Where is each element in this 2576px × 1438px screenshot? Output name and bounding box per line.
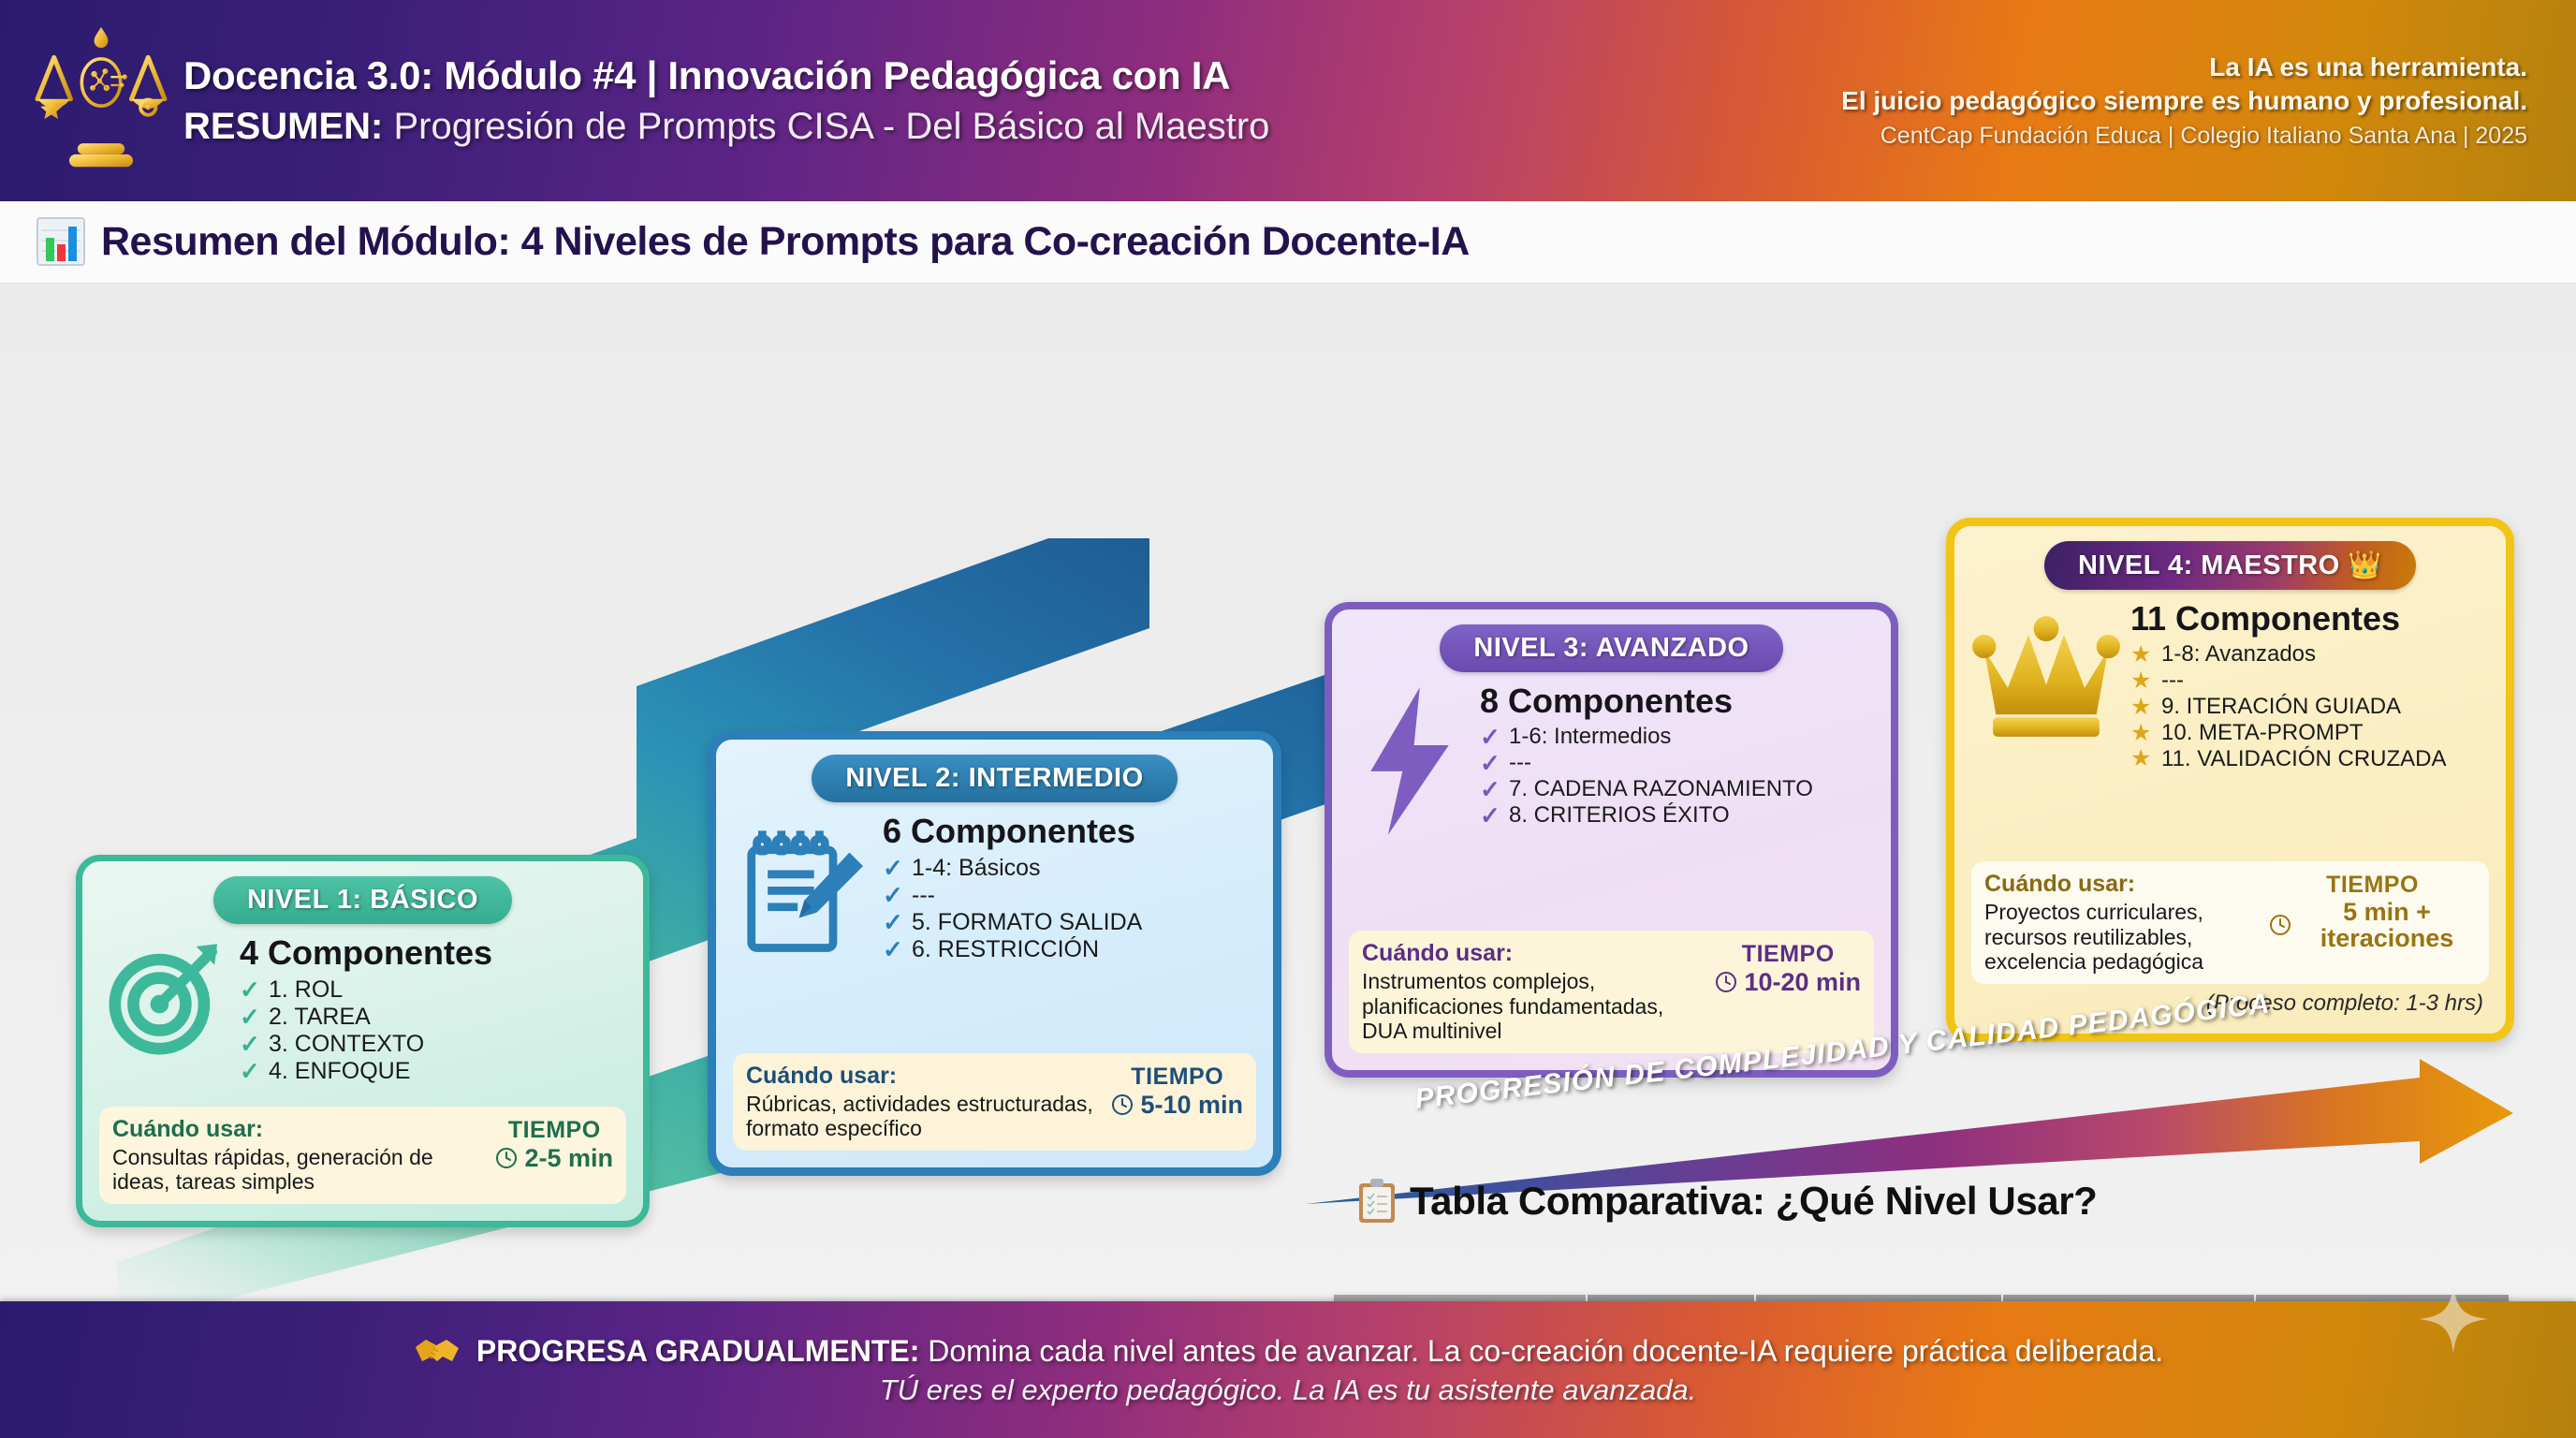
lightning-bolt-icon [1349,682,1471,841]
level-2-info: 6 Componentes ✓1-4: Básicos ✓--- ✓5. FOR… [883,812,1256,962]
level-1-pill: NIVEL 1: BÁSICO [213,876,512,924]
level-2-item-label: 1-4: Básicos [912,855,1041,881]
level-2-when-title: Cuándo usar: [746,1063,1102,1090]
level-4-when-text: Proyectos curriculares, recursos reutili… [1984,900,2260,975]
check-icon: ✓ [1480,751,1500,775]
level-4-when-left: Cuándo usar: Proyectos curriculares, rec… [1984,871,2260,975]
star-icon: ★ [2130,696,2153,719]
level-2-components-title: 6 Componentes [883,812,1256,851]
level-4-time-value-row: 5 min + iteraciones [2269,899,2476,952]
list-item: ✓3. CONTEXTO [240,1031,626,1057]
header-banner: Docencia 3.0: Módulo #4 | Innovación Ped… [0,0,2576,201]
check-icon: ✓ [1480,803,1500,828]
check-icon: ✓ [883,883,903,907]
level-2-time-block: TIEMPO 5-10 min [1111,1063,1243,1120]
table-title: Tabla Comparativa: ¿Qué Nivel Usar? [1410,1179,2097,1224]
level-1-component-list: ✓1. ROL ✓2. TAREA ✓3. CONTEXTO ✓4. ENFOQ… [240,976,626,1084]
table-header-row: CRITERIO BÁSICO INTERMEDIO AVANZADO MAES… [1334,1295,2509,1301]
level-4-item-label: 10. META-PROMPT [2161,721,2364,746]
level-4-components-title: 11 Componentes [2130,599,2489,638]
header-subtitle-text: Progresión de Prompts CISA - Del Básico … [393,106,1269,147]
level-4-when-box: Cuándo usar: Proyectos curriculares, rec… [1971,861,2489,984]
level-3-body: 8 Componentes ✓1-6: Intermedios ✓--- ✓7.… [1349,682,1874,921]
level-3-info: 8 Componentes ✓1-6: Intermedios ✓--- ✓7.… [1480,682,1874,829]
check-icon: ✓ [883,910,903,934]
check-icon: ✓ [240,1005,260,1029]
level-1-item-label: 4. ENFOQUE [269,1058,410,1084]
level-2-item-label: --- [912,882,935,908]
clipboard-icon [1357,1178,1397,1225]
main-canvas: NIVEL 1: BÁSICO 4 Componentes ✓1. ROL [0,284,2576,1301]
level-1-body: 4 Componentes ✓1. ROL ✓2. TAREA ✓3. CONT… [99,933,626,1097]
col-header-avanzado: AVANZADO [2002,1295,2254,1301]
infographic-root: Docencia 3.0: Módulo #4 | Innovación Ped… [0,0,2576,1438]
list-item: ★1-8: Avanzados [2130,642,2489,668]
list-item: ✓--- [883,882,1256,908]
level-3-component-list: ✓1-6: Intermedios ✓--- ✓7. CADENA RAZONA… [1480,725,1874,829]
level-2-component-list: ✓1-4: Básicos ✓--- ✓5. FORMATO SALIDA ✓6… [883,855,1256,962]
level-1-item-label: 2. TAREA [269,1004,371,1030]
level-3-pill: NIVEL 3: AVANZADO [1440,624,1782,672]
level-4-item-label: 9. ITERACIÓN GUIADA [2161,695,2401,720]
level-3-time-value: 10-20 min [1744,968,1861,997]
check-icon: ✓ [1480,725,1500,749]
header-titles: Docencia 3.0: Módulo #4 | Innovación Ped… [183,53,1841,148]
star-icon: ★ [2130,669,2153,693]
list-item: ✓1. ROL [240,976,626,1003]
level-3-components-title: 8 Componentes [1480,682,1874,721]
level-4-time-label: TIEMPO [2326,872,2419,899]
level-4-item-label: 11. VALIDACIÓN CRUZADA [2161,747,2447,772]
level-3-time-block: TIEMPO 10-20 min [1715,940,1861,997]
footer-line-2: TÚ eres el experto pedagógico. La IA es … [880,1373,1697,1407]
level-3-when-text: Instrumentos complejos, planificaciones … [1362,969,1705,1044]
check-icon: ✓ [883,856,903,880]
comparative-table: CRITERIO BÁSICO INTERMEDIO AVANZADO MAES… [1334,1295,2509,1301]
check-icon: ✓ [883,937,903,961]
level-3-item-label: 1-6: Intermedios [1509,725,1671,750]
header-tagline-2: El juicio pedagógico siempre es humano y… [1841,86,2527,116]
clock-icon [2269,914,2291,936]
list-item: ✓1-4: Básicos [883,855,1256,881]
check-icon: ✓ [240,1032,260,1056]
page-title: Resumen del Módulo: 4 Niveles de Prompts… [101,219,1470,265]
level-1-item-label: 1. ROL [269,976,343,1003]
level-2-item-label: 6. RESTRICCIÓN [912,936,1099,962]
level-3-item-label: 8. CRITERIOS ÉXITO [1509,803,1730,829]
list-item: ✓8. CRITERIOS ÉXITO [1480,803,1874,829]
list-item: ★10. META-PROMPT [2130,721,2489,746]
level-4-time-value: 5 min + iteraciones [2298,899,2476,952]
level-3-time-label: TIEMPO [1742,941,1835,968]
level-2-item-label: 5. FORMATO SALIDA [912,909,1142,935]
level-1-info: 4 Componentes ✓1. ROL ✓2. TAREA ✓3. CONT… [240,933,626,1084]
level-2-when-box: Cuándo usar: Rúbricas, actividades estru… [733,1053,1256,1151]
level-card-intermedio[interactable]: NIVEL 2: INTERMEDIO [708,731,1281,1176]
header-tagline-1: La IA es una herramienta. [2209,52,2527,82]
list-item: ✓6. RESTRICCIÓN [883,936,1256,962]
list-item: ✓2. TAREA [240,1004,626,1030]
check-icon: ✓ [1480,777,1500,801]
level-1-components-title: 4 Componentes [240,933,626,973]
header-tagline-block: La IA es una herramienta. El juicio peda… [1841,52,2544,150]
level-4-info: 11 Componentes ★1-8: Avanzados ★--- ★9. … [2130,599,2489,771]
handshake-icon [413,1332,461,1370]
header-subtitle-label: RESUMEN: [183,106,383,147]
footer-banner: PROGRESA GRADUALMENTE: Domina cada nivel… [0,1301,2576,1438]
level-3-when-box: Cuándo usar: Instrumentos complejos, pla… [1349,931,1874,1053]
crown-icon [1971,599,2121,740]
col-header-basico: BÁSICO [1587,1295,1755,1301]
level-4-body: 11 Componentes ★1-8: Avanzados ★--- ★9. … [1971,599,2489,852]
level-1-item-label: 3. CONTEXTO [269,1031,424,1057]
star-icon: ★ [2130,643,2153,667]
level-3-when-left: Cuándo usar: Instrumentos complejos, pla… [1362,940,1705,1044]
bar-chart-icon [36,216,86,269]
level-4-when-title: Cuándo usar: [1984,871,2260,898]
sparkle-icon [2419,1284,2488,1354]
level-1-when-text: Consultas rápidas, generación de ideas, … [112,1145,486,1195]
level-1-when-box: Cuándo usar: Consultas rápidas, generaci… [99,1107,626,1204]
target-icon [99,933,230,1064]
list-item: ★11. VALIDACIÓN CRUZADA [2130,747,2489,772]
list-item: ✓1-6: Intermedios [1480,725,1874,750]
level-card-avanzado[interactable]: NIVEL 3: AVANZADO 8 Componentes ✓1-6: In… [1325,602,1898,1078]
level-3-when-title: Cuándo usar: [1362,940,1705,967]
list-item: ✓5. FORMATO SALIDA [883,909,1256,935]
level-2-pill: NIVEL 2: INTERMEDIO [812,755,1177,802]
footer-line-1-text: PROGRESA GRADUALMENTE: Domina cada nivel… [476,1334,2163,1369]
level-4-time-block: TIEMPO 5 min + iteraciones [2269,871,2476,952]
level-2-time-value: 5-10 min [1140,1091,1243,1120]
footer-line-1-bold: PROGRESA GRADUALMENTE: [476,1334,919,1368]
level-4-component-list: ★1-8: Avanzados ★--- ★9. ITERACIÓN GUIAD… [2130,642,2489,771]
header-subtitle: RESUMEN: Progresión de Prompts CISA - De… [183,106,1841,148]
footer-line-1-rest: Domina cada nivel antes de avanzar. La c… [928,1334,2163,1368]
star-icon: ★ [2130,747,2153,770]
level-2-when-left: Cuándo usar: Rúbricas, actividades estru… [746,1063,1102,1141]
level-1-when-left: Cuándo usar: Consultas rápidas, generaci… [112,1116,486,1195]
list-item: ✓--- [1480,751,1874,776]
level-1-time-value-row: 2-5 min [495,1144,613,1173]
col-header-intermedio: INTERMEDIO [1755,1295,2002,1301]
table-title-row: Tabla Comparativa: ¿Qué Nivel Usar? [1357,1178,2097,1225]
level-3-item-label: --- [1509,751,1531,776]
list-item: ★9. ITERACIÓN GUIADA [2130,695,2489,720]
level-2-body: 6 Componentes ✓1-4: Básicos ✓--- ✓5. FOR… [733,812,1256,1044]
level-2-time-label: TIEMPO [1131,1064,1223,1091]
list-item: ✓7. CADENA RAZONAMIENTO [1480,777,1874,802]
col-header-criterio: CRITERIO [1334,1295,1587,1301]
list-item: ✓4. ENFOQUE [240,1058,626,1084]
header-title: Docencia 3.0: Módulo #4 | Innovación Ped… [183,53,1841,98]
table-head: CRITERIO BÁSICO INTERMEDIO AVANZADO MAES… [1334,1295,2509,1301]
section-title-bar: Resumen del Módulo: 4 Niveles de Prompts… [0,201,2576,284]
level-1-time-block: TIEMPO 2-5 min [495,1116,613,1173]
level-1-time-label: TIEMPO [508,1117,601,1144]
level-2-when-text: Rúbricas, actividades estructuradas, for… [746,1092,1102,1141]
level-1-when-title: Cuándo usar: [112,1116,486,1143]
notepad-pencil-icon [733,812,873,961]
footer-line-1: PROGRESA GRADUALMENTE: Domina cada nivel… [413,1332,2163,1370]
clock-icon [1111,1093,1134,1116]
scales-brain-icon [32,22,170,181]
check-icon: ✓ [240,977,260,1002]
level-1-time-value: 2-5 min [524,1144,613,1173]
level-2-time-value-row: 5-10 min [1111,1091,1243,1120]
check-icon: ✓ [240,1059,260,1083]
clock-icon [1715,971,1737,993]
level-4-pill: NIVEL 4: MAESTRO 👑 [2044,541,2416,590]
level-3-item-label: 7. CADENA RAZONAMIENTO [1509,777,1813,802]
level-4-item-label: --- [2161,668,2184,694]
clock-icon [495,1147,518,1169]
star-icon: ★ [2130,722,2153,745]
level-card-maestro[interactable]: NIVEL 4: MAESTRO 👑 11 Compo [1946,518,2514,1042]
list-item: ★--- [2130,668,2489,694]
header-credits: CentCap Fundación Educa | Colegio Italia… [1881,123,2527,150]
level-card-basico[interactable]: NIVEL 1: BÁSICO 4 Componentes ✓1. ROL [76,855,650,1227]
level-4-item-label: 1-8: Avanzados [2161,642,2316,668]
level-3-time-value-row: 10-20 min [1715,968,1861,997]
